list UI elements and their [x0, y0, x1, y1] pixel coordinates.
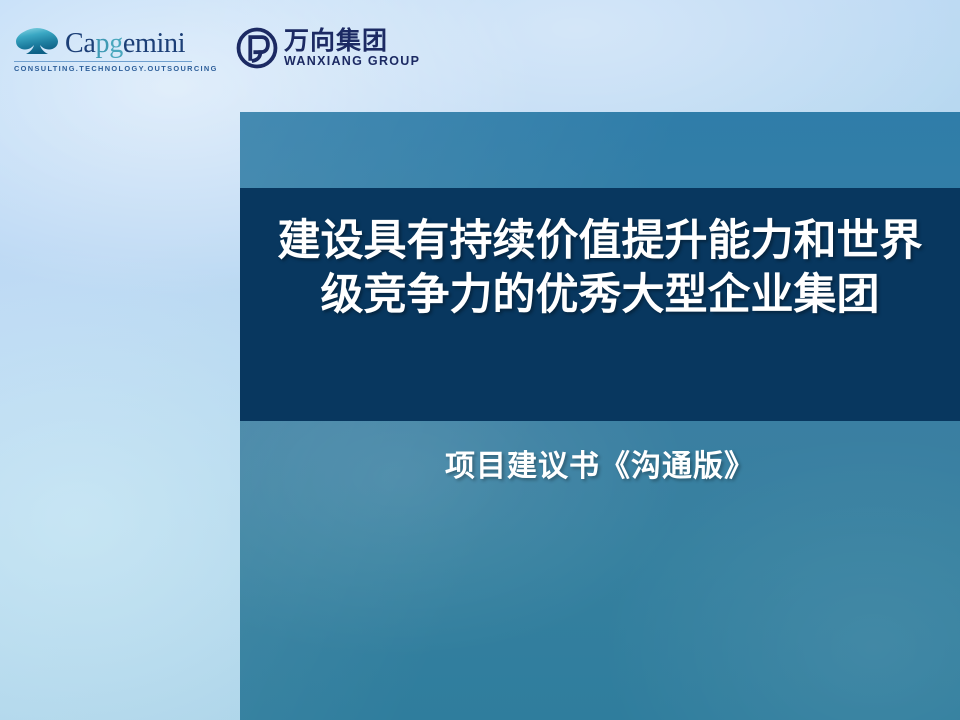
capgemini-wordmark: Capgemini — [65, 30, 185, 58]
capgemini-word-ca: Ca — [65, 28, 96, 59]
title-band: 建设具有持续价值提升能力和世界 级竞争力的优秀大型企业集团 — [240, 188, 960, 421]
wanxiang-text-block: 万向集团 WANXIANG GROUP — [284, 28, 420, 68]
slide-subtitle: 项目建议书《沟通版》 — [240, 446, 960, 488]
wanxiang-logo-row: 万向集团 WANXIANG GROUP — [236, 24, 428, 72]
wanxiang-name-cn: 万向集团 — [284, 28, 420, 54]
capgemini-word-emini: emini — [123, 28, 185, 59]
capgemini-tagline: CONSULTING.TECHNOLOGY.OUTSOURCING — [14, 61, 192, 73]
capgemini-word-g: g — [109, 28, 123, 59]
capgemini-word-p: p — [96, 28, 110, 59]
capgemini-logo: Capgemini CONSULTING.TECHNOLOGY.OUTSOURC… — [14, 24, 194, 72]
logo-bar: Capgemini CONSULTING.TECHNOLOGY.OUTSOURC… — [0, 0, 960, 112]
wanxiang-logo: 万向集团 WANXIANG GROUP — [236, 24, 428, 72]
capgemini-wordmark-row: Capgemini — [14, 24, 194, 58]
presentation-slide: Capgemini CONSULTING.TECHNOLOGY.OUTSOURC… — [0, 0, 960, 720]
wanxiang-name-en: WANXIANG GROUP — [284, 54, 420, 68]
spade-icon — [14, 27, 60, 57]
slide-title-line2: 级竞争力的优秀大型企业集团 — [258, 268, 942, 322]
wanxiang-emblem-icon — [236, 27, 278, 69]
slide-title: 建设具有持续价值提升能力和世界 级竞争力的优秀大型企业集团 — [240, 214, 960, 322]
slide-title-line1: 建设具有持续价值提升能力和世界 — [258, 214, 942, 268]
